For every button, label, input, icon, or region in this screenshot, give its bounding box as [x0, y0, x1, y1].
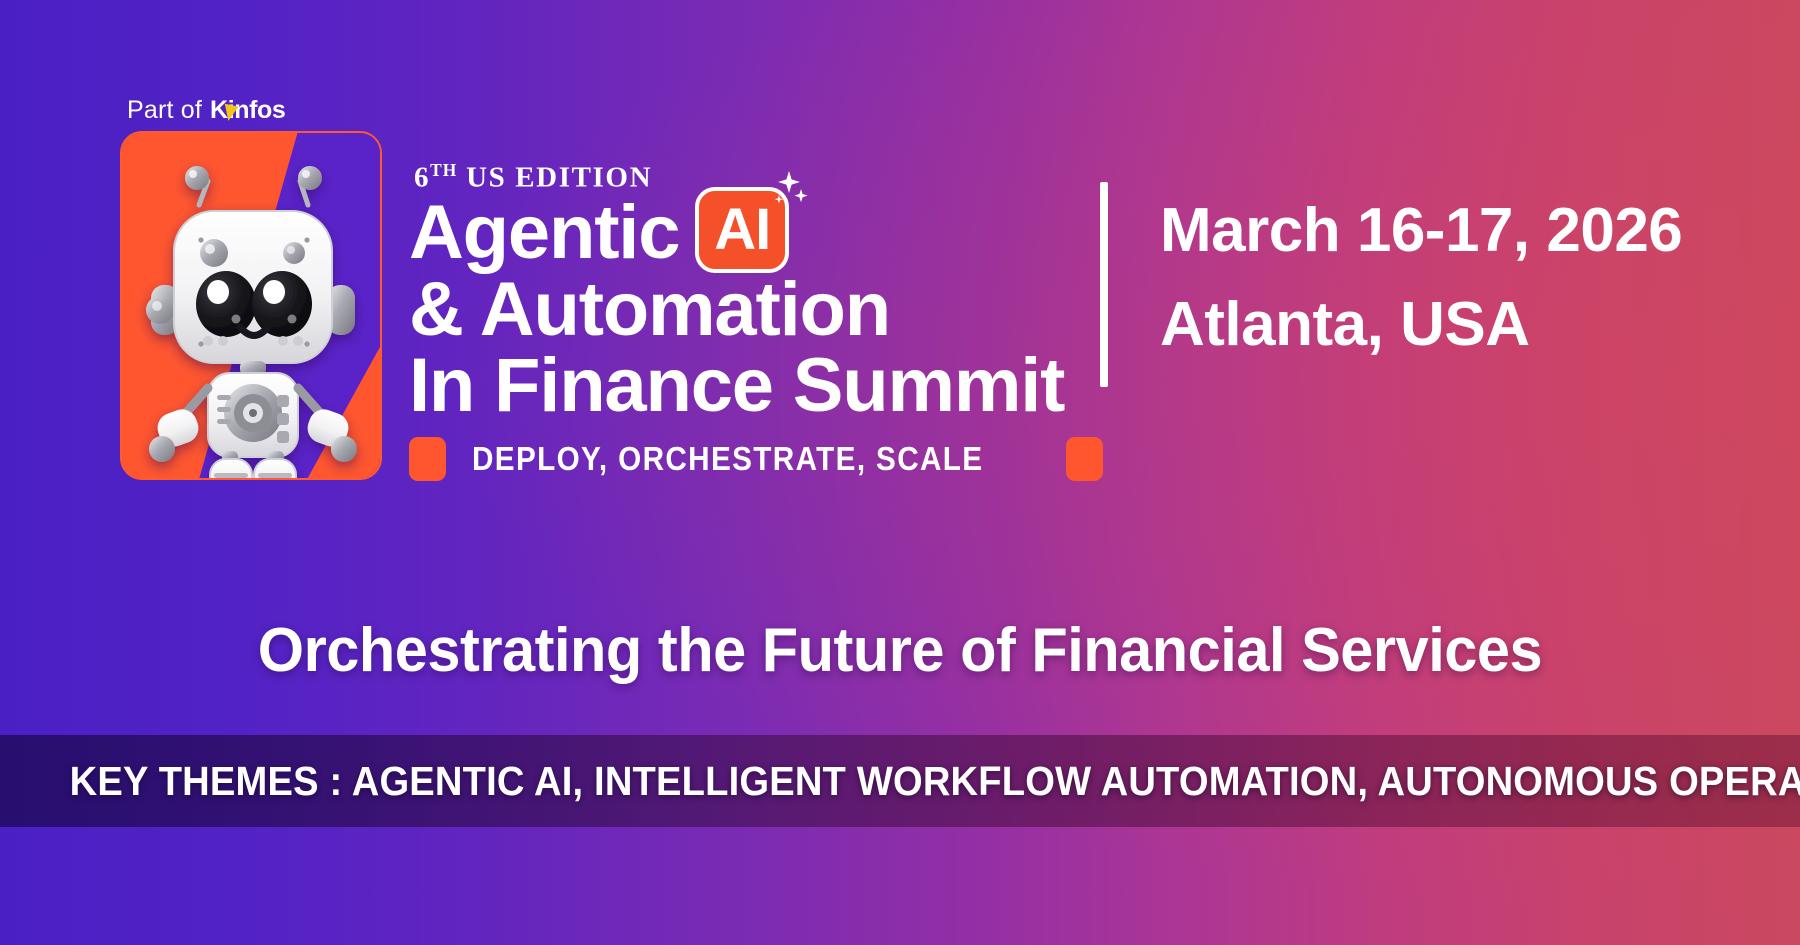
robot-mascot-icon	[122, 133, 382, 480]
ai-badge-label: AI	[714, 201, 770, 259]
edition-number: 6	[414, 162, 430, 194]
ai-badge: AI	[695, 187, 789, 273]
mascot-logo-card	[120, 131, 382, 480]
tagline-square-right	[1066, 437, 1103, 481]
part-of-label: Part of	[127, 96, 202, 125]
kinfos-wordmark: Kinfos	[210, 96, 285, 124]
event-location: Atlanta, USA	[1160, 294, 1529, 356]
tagline-text: DEPLOY, ORCHESTRATE, SCALE	[472, 440, 983, 478]
event-title-line-2: & Automation	[409, 272, 890, 348]
part-of-kinfos: Part of Kinfos	[127, 96, 285, 125]
event-headline: Orchestrating the Future of Financial Se…	[0, 615, 1800, 686]
event-title-line-3: In Finance Summit	[409, 348, 1064, 424]
tagline-square-left	[409, 437, 446, 481]
key-themes-row: KEY THEMES : AGENTIC AI, INTELLIGENT WOR…	[0, 758, 1800, 805]
vertical-divider	[1100, 182, 1108, 387]
title-word-agentic: Agentic	[409, 195, 679, 271]
kinfos-logo: Kinfos	[210, 96, 285, 125]
tagline-row: DEPLOY, ORCHESTRATE, SCALE	[409, 437, 1103, 481]
key-themes-text: KEY THEMES : AGENTIC AI, INTELLIGENT WOR…	[70, 758, 1800, 805]
edition-suffix: US EDITION	[457, 162, 652, 194]
event-headline-text: Orchestrating the Future of Financial Se…	[258, 615, 1542, 686]
edition-ordinal: TH	[430, 160, 457, 180]
event-banner: Part of Kinfos	[0, 0, 1800, 945]
event-title-line-1: Agentic AI	[409, 190, 789, 276]
sparkle-icon	[763, 169, 809, 215]
event-date: March 16-17, 2026	[1160, 200, 1682, 262]
key-themes-bar: KEY THEMES : AGENTIC AI, INTELLIGENT WOR…	[0, 735, 1800, 827]
